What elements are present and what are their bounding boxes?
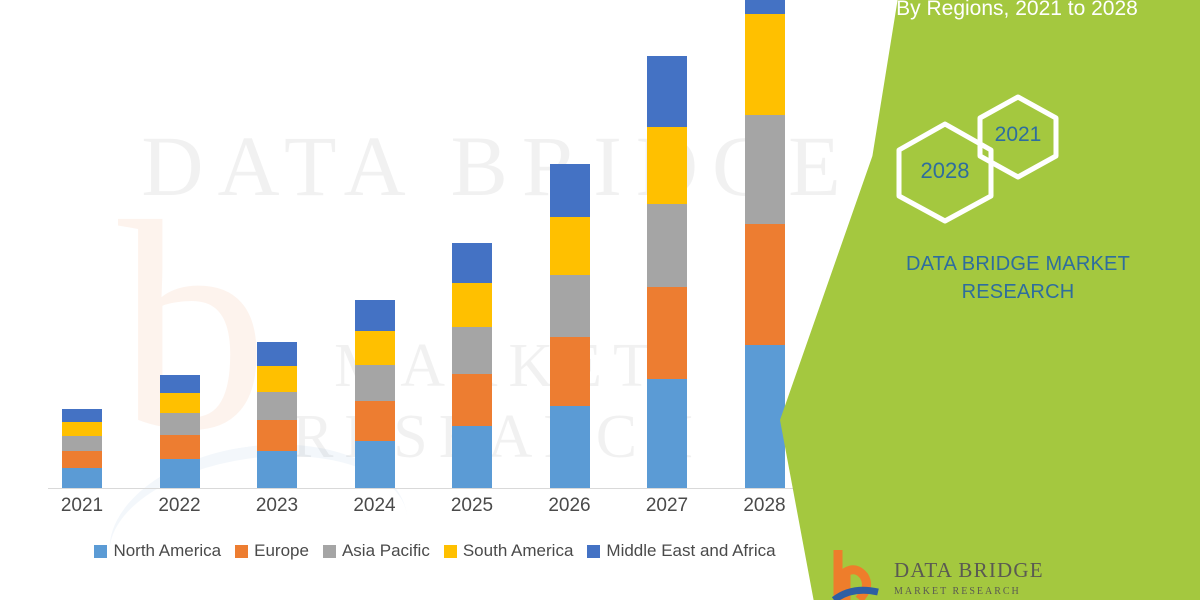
chart-legend: North AmericaEuropeAsia PacificSouth Ame… — [40, 538, 830, 564]
logo-title: DATA BRIDGE — [894, 558, 1044, 583]
bar-segment — [550, 217, 590, 275]
x-tick-2027: 2027 — [625, 495, 709, 517]
bar-segment — [550, 275, 590, 337]
bar-segment — [745, 115, 785, 224]
bar-segment — [745, 224, 785, 345]
bar-segment — [257, 342, 297, 366]
stacked-bar[interactable] — [647, 56, 687, 488]
brand-line-1: DATA BRIDGE MARKET — [858, 250, 1178, 278]
bar-segment — [62, 451, 102, 468]
bar-segment — [257, 366, 297, 392]
bar-segment — [452, 327, 492, 374]
bar-segment — [452, 243, 492, 283]
legend-label: Asia Pacific — [342, 541, 430, 561]
x-axis-tick-labels: 20212022202320242025202620272028 — [40, 495, 820, 523]
bar-segment — [647, 127, 687, 204]
stacked-bar[interactable] — [452, 243, 492, 488]
bar-segment — [550, 406, 590, 488]
bar-segment — [160, 413, 200, 435]
company-logo: DATA BRIDGE MARKET RESEARCH — [832, 548, 1062, 600]
bar-segment — [62, 409, 102, 422]
x-tick-2024: 2024 — [333, 495, 417, 517]
legend-swatch — [323, 545, 336, 558]
bar-segment — [452, 374, 492, 426]
legend-swatch — [444, 545, 457, 558]
bar-segment — [452, 283, 492, 327]
hexagon-2028-label: 2028 — [890, 158, 1000, 184]
chart-plot-area — [40, 70, 820, 488]
legend-label: Middle East and Africa — [606, 541, 775, 561]
logo-mark-icon — [832, 550, 880, 600]
bar-segment — [745, 14, 785, 115]
x-tick-2023: 2023 — [235, 495, 319, 517]
bar-segment — [160, 393, 200, 413]
bar-group-2022[interactable] — [138, 70, 222, 488]
legend-label: South America — [463, 541, 574, 561]
bar-group-2021[interactable] — [40, 70, 124, 488]
legend-label: Europe — [254, 541, 309, 561]
legend-swatch — [235, 545, 248, 558]
brand-name: DATA BRIDGE MARKET RESEARCH — [858, 250, 1178, 306]
stacked-bar[interactable] — [62, 409, 102, 488]
hexagon-2028: 2028 — [890, 120, 1000, 225]
legend-item[interactable]: Middle East and Africa — [587, 541, 775, 561]
bar-segment — [355, 401, 395, 441]
x-tick-2022: 2022 — [138, 495, 222, 517]
bar-segment — [160, 459, 200, 488]
bar-segment — [647, 287, 687, 379]
infographic-page: b DATA BRIDGE MARKET RESEARCH USD 16,380… — [0, 0, 1200, 600]
bar-segment — [550, 337, 590, 406]
bar-segment — [257, 420, 297, 451]
x-axis-line — [48, 488, 800, 489]
bar-group-2024[interactable] — [333, 70, 417, 488]
legend-item[interactable]: Asia Pacific — [323, 541, 430, 561]
legend-item[interactable]: South America — [444, 541, 574, 561]
bar-segment — [355, 300, 395, 331]
legend-swatch — [94, 545, 107, 558]
bar-segment — [62, 436, 102, 451]
bar-segment — [745, 345, 785, 488]
bar-group-2026[interactable] — [528, 70, 612, 488]
bar-segment — [62, 468, 102, 488]
logo-subtitle: MARKET RESEARCH — [894, 586, 1021, 597]
page-title: USD 16,380.78 Million by 2028 — [0, 0, 830, 2]
hexagon-badges: 2021 2028 — [880, 95, 1100, 225]
stacked-bar[interactable] — [550, 164, 590, 488]
legend-item[interactable]: Europe — [235, 541, 309, 561]
x-tick-2028: 2028 — [723, 495, 807, 517]
x-tick-2021: 2021 — [40, 495, 124, 517]
bar-group-2025[interactable] — [430, 70, 514, 488]
bar-segment — [647, 379, 687, 488]
bar-segment — [647, 56, 687, 127]
bar-segment — [452, 426, 492, 488]
bar-segment — [257, 392, 297, 420]
legend-label: North America — [113, 541, 221, 561]
bar-segment — [550, 164, 590, 217]
brand-line-2: RESEARCH — [858, 278, 1178, 306]
bar-segment — [745, 0, 785, 14]
bar-segment — [355, 365, 395, 401]
bar-segment — [355, 441, 395, 488]
bar-segment — [160, 435, 200, 459]
bar-group-2027[interactable] — [625, 70, 709, 488]
stacked-bar[interactable] — [355, 300, 395, 488]
stacked-bar[interactable] — [160, 375, 200, 488]
bar-group-2023[interactable] — [235, 70, 319, 488]
bar-segment — [257, 451, 297, 488]
bar-segment — [62, 422, 102, 436]
bar-segment — [647, 204, 687, 287]
x-tick-2025: 2025 — [430, 495, 514, 517]
stacked-bar[interactable] — [745, 0, 785, 488]
legend-swatch — [587, 545, 600, 558]
x-tick-2026: 2026 — [528, 495, 612, 517]
panel-subtitle: By Regions, 2021 to 2028 — [852, 0, 1182, 23]
bar-segment — [355, 331, 395, 365]
bar-segment — [160, 375, 200, 393]
stacked-bar[interactable] — [257, 342, 297, 488]
legend-item[interactable]: North America — [94, 541, 221, 561]
stacked-bar-chart — [40, 70, 820, 490]
